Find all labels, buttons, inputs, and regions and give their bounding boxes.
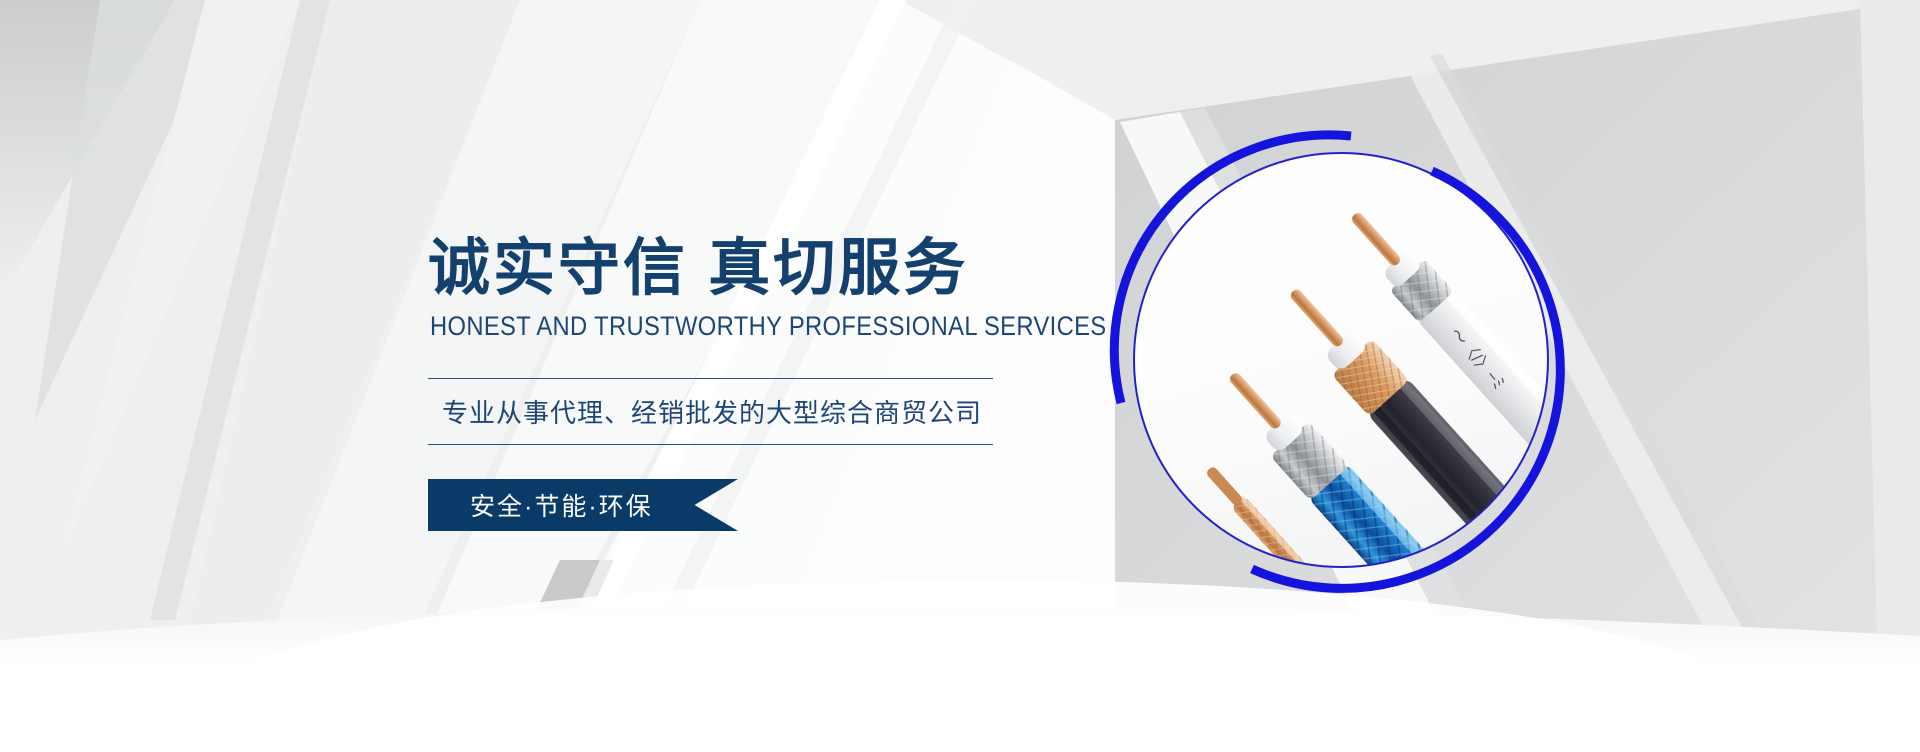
page-title: 诚实守信 真切服务 — [428, 236, 1068, 301]
subtitle-chinese: 专业从事代理、经销批发的大型综合商贸公司 — [428, 379, 1068, 444]
medallion-arc-right — [1252, 171, 1560, 588]
product-medallion: 〜〈/〉−ﾐ — [1126, 145, 1556, 575]
tagline-ribbon-badge: 安全·节能·环保 — [428, 479, 738, 531]
medallion-arc-topleft — [1114, 135, 1351, 403]
subtitle-english: HONEST AND TRUSTWORTHY PROFESSIONAL SERV… — [430, 311, 991, 342]
medallion-thin-ring — [1134, 153, 1548, 567]
headline-block: 诚实守信 真切服务 HONEST AND TRUSTWORTHY PROFESS… — [428, 236, 1068, 445]
divider-bottom — [428, 444, 993, 445]
promotional-banner: 诚实守信 真切服务 HONEST AND TRUSTWORTHY PROFESS… — [0, 0, 1920, 752]
